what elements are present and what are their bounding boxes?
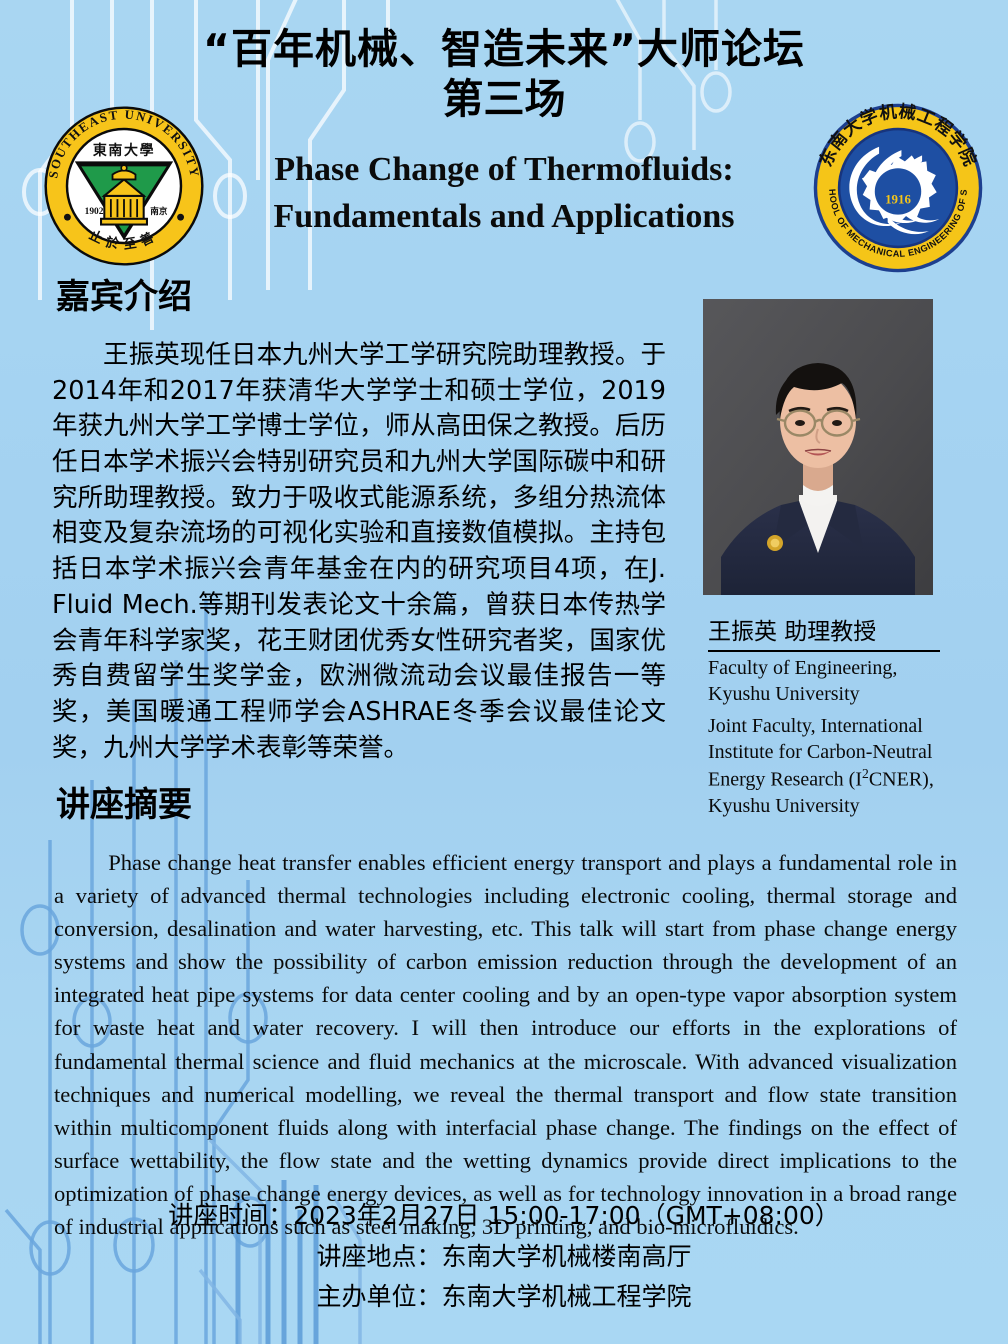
abstract-section-heading: 讲座摘要 bbox=[56, 788, 192, 822]
event-time: 讲座时间：2023年2月27日 15:00-17:00（GMT+08:00） bbox=[0, 1196, 1008, 1237]
poster-root: SOUTHEAST UNIVERSITY 止於至善 東南大學 bbox=[0, 0, 1008, 1344]
guest-section-heading: 嘉宾介绍 bbox=[56, 280, 192, 314]
forum-title-cn-line2: 第三场 bbox=[190, 74, 818, 125]
svg-text:南京: 南京 bbox=[150, 205, 168, 217]
affiliation-2-superscript: 2 bbox=[862, 766, 869, 781]
lecture-title-en-line2: Fundamentals and Applications bbox=[190, 194, 818, 241]
event-location: 讲座地点：东南大学机械楼南高厅 bbox=[0, 1237, 1008, 1278]
speaker-photo bbox=[703, 299, 933, 595]
svg-text:東南大學: 東南大學 bbox=[93, 142, 155, 159]
forum-title-cn-line1: “百年机械、智造未来”大师论坛 bbox=[190, 24, 818, 74]
southeast-university-logo: SOUTHEAST UNIVERSITY 止於至善 東南大學 bbox=[42, 104, 206, 268]
abstract-body: Phase change heat transfer enables effic… bbox=[54, 846, 957, 1243]
event-organizer: 主办单位：东南大学机械工程学院 bbox=[0, 1277, 1008, 1318]
lecture-title-en-line1: Phase Change of Thermofluids: bbox=[190, 147, 818, 194]
event-details-footer: 讲座时间：2023年2月27日 15:00-17:00（GMT+08:00） 讲… bbox=[0, 1196, 1008, 1318]
speaker-affiliation-1: Faculty of Engineering, Kyushu Universit… bbox=[708, 655, 958, 707]
svg-text:1916: 1916 bbox=[885, 192, 911, 206]
sme-seu-seal-icon: 东南大学机械工程学院 SCHOOL OF MECHANICAL ENGINEER… bbox=[812, 102, 984, 274]
poster-header: SOUTHEAST UNIVERSITY 止於至善 東南大學 bbox=[0, 0, 1008, 275]
school-of-mechanical-engineering-logo: 东南大学机械工程学院 SCHOOL OF MECHANICAL ENGINEER… bbox=[812, 102, 984, 274]
speaker-name-title: 王振英 助理教授 bbox=[708, 612, 940, 652]
seu-seal-icon: SOUTHEAST UNIVERSITY 止於至善 東南大學 bbox=[42, 104, 206, 268]
speaker-portrait-image bbox=[703, 299, 933, 595]
guest-biography: 王振英现任日本九州大学工学研究院助理教授。于2014年和2017年获清华大学学士… bbox=[52, 338, 666, 766]
svg-text:1902: 1902 bbox=[85, 207, 104, 217]
poster-title-block: “百年机械、智造未来”大师论坛 第三场 Phase Change of Ther… bbox=[190, 24, 818, 241]
speaker-affiliation-2: Joint Faculty, International Institute f… bbox=[708, 713, 958, 819]
